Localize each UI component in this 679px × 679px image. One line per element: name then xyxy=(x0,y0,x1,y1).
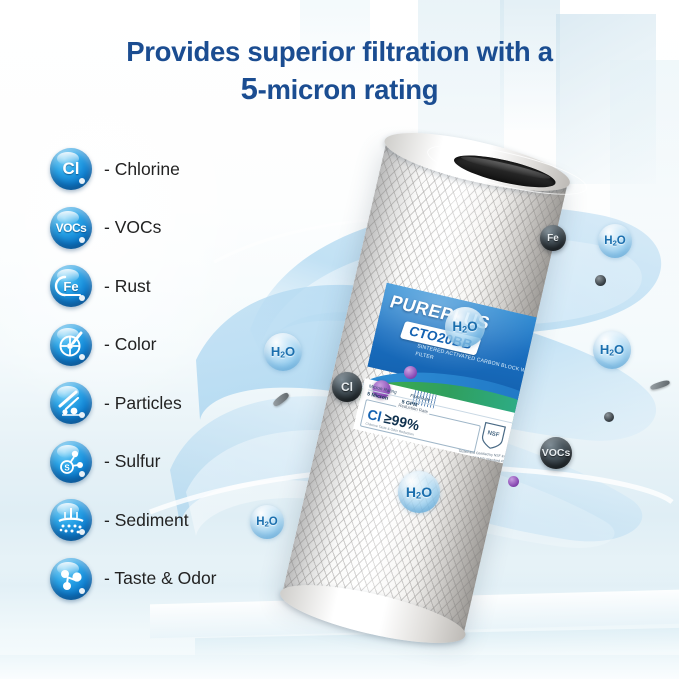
badge-label: VOCs xyxy=(542,447,571,459)
vocs-symbol: VOCs xyxy=(50,207,92,249)
badge-label: Fe xyxy=(547,233,559,244)
chlorine-icon: Cl xyxy=(50,148,92,190)
sulfur-icon: S xyxy=(50,441,92,483)
product-infographic: Provides superior filtration with a 5-mi… xyxy=(0,0,679,679)
badge-cl: Cl xyxy=(332,372,362,402)
taste-odor-icon xyxy=(50,558,92,600)
badge-vocs: VOCs xyxy=(540,437,572,469)
h2o-bubble-right: H2O xyxy=(593,331,631,369)
h2o-text: H2O xyxy=(406,484,432,501)
list-item-label: - Sulfur xyxy=(104,451,160,472)
molecule-glyph xyxy=(50,558,92,600)
svg-text:S: S xyxy=(64,463,70,472)
particles-icon xyxy=(50,382,92,424)
h2o-bubble-bottom: H2O xyxy=(398,471,440,513)
list-item-label: - Particles xyxy=(104,393,182,414)
badge-label: Cl xyxy=(341,380,353,394)
micron-rest: -micron rating xyxy=(258,74,439,105)
list-item-label: - Color xyxy=(104,334,157,355)
list-item-label: - Chlorine xyxy=(104,159,180,180)
list-item[interactable]: Cl - Chlorine xyxy=(50,140,350,199)
list-item-label: - Rust xyxy=(104,276,151,297)
particles-glyph xyxy=(50,382,92,424)
icon-glint xyxy=(79,354,85,360)
list-item-label: - Taste & Odor xyxy=(104,568,217,589)
list-item[interactable]: VOCs - VOCs xyxy=(50,199,350,258)
debris-speck xyxy=(595,275,606,286)
h2o-text: H2O xyxy=(271,344,295,360)
rust-icon: Fe xyxy=(50,265,92,307)
h2o-text: H2O xyxy=(452,319,477,335)
h2o-bubble-bottom-left: H2O xyxy=(250,505,284,539)
sediment-icon xyxy=(50,499,92,541)
icon-glint xyxy=(79,237,85,243)
background-shelf xyxy=(0,655,679,679)
micron-number: 5 xyxy=(241,71,258,106)
rust-symbol: Fe xyxy=(50,265,92,307)
debris-speck xyxy=(604,412,614,422)
color-icon xyxy=(50,324,92,366)
sediment-glyph xyxy=(50,499,92,541)
h2o-text: H2O xyxy=(256,516,277,528)
h2o-bubble-left: H2O xyxy=(264,333,302,371)
h2o-text: H2O xyxy=(604,235,625,247)
h2o-bubble-top-right: H2O xyxy=(598,224,632,258)
sulfur-molecule-glyph: S xyxy=(50,441,92,483)
headline-line-2: 5-micron rating xyxy=(0,71,679,106)
icon-glint xyxy=(79,471,85,477)
headline-line-1: Provides superior filtration with a xyxy=(0,36,679,67)
list-item[interactable]: Fe - Rust xyxy=(50,257,350,316)
vocs-icon: VOCs xyxy=(50,207,92,249)
list-item-label: - VOCs xyxy=(104,217,161,238)
h2o-bubble-mid: H2O xyxy=(445,307,485,347)
h2o-text: H2O xyxy=(600,342,624,358)
badge-fe: Fe xyxy=(540,225,566,251)
color-palette-glyph xyxy=(50,324,92,366)
icon-glint xyxy=(79,588,85,594)
debris-speck xyxy=(404,366,417,379)
list-item-label: - Sediment xyxy=(104,510,189,531)
page-title: Provides superior filtration with a 5-mi… xyxy=(0,36,679,107)
debris-speck xyxy=(508,476,519,487)
chlorine-symbol: Cl xyxy=(50,148,92,190)
